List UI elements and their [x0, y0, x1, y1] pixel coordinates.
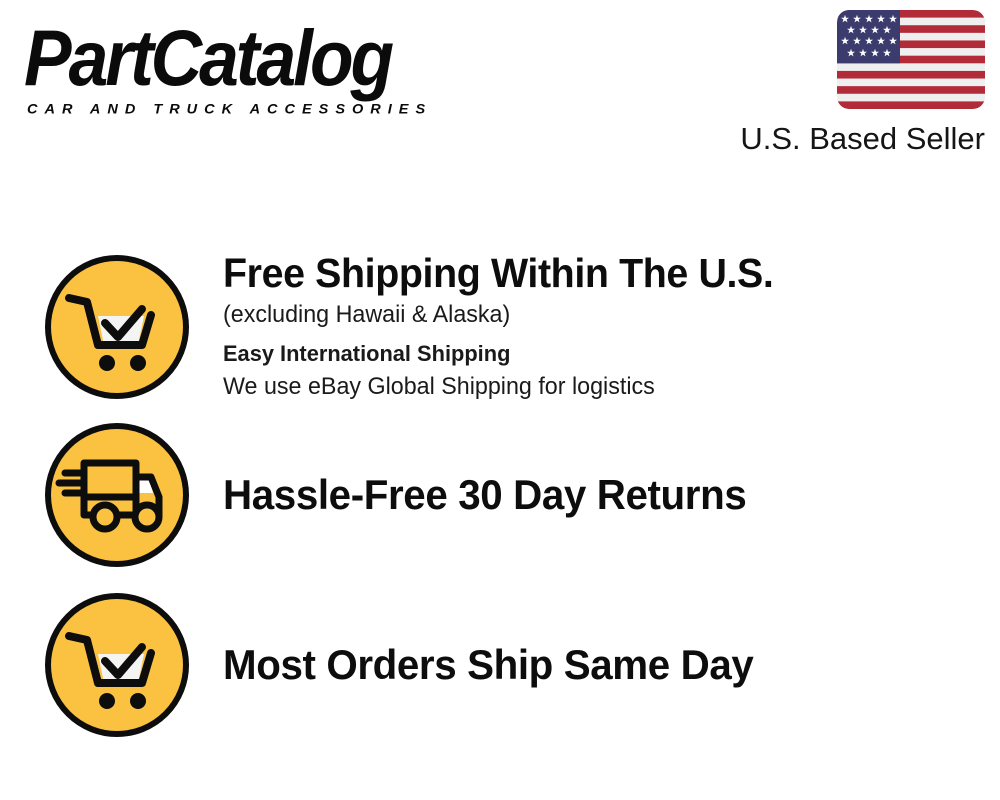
feature-subtitle: (excluding Hawaii & Alaska) [223, 298, 977, 331]
seller-label: U.S. Based Seller [655, 121, 985, 157]
feature-title: Most Orders Ship Same Day [223, 640, 969, 689]
feature-row: Hassle-Free 30 Day Returns [0, 421, 1000, 569]
feature-row: Most Orders Ship Same Day [0, 591, 1000, 739]
delivery-truck-icon [43, 421, 191, 569]
feature-subtitle-detail: We use eBay Global Shipping for logistic… [223, 370, 977, 403]
cart-check-icon [43, 253, 191, 401]
header: PartCatalog CAR AND TRUCK ACCESSORIES [0, 0, 1000, 175]
us-flag-icon [837, 10, 985, 109]
feature-row: Free Shipping Within The U.S. (excluding… [0, 249, 1000, 405]
feature-title: Free Shipping Within The U.S. [223, 249, 969, 298]
seller-badge: U.S. Based Seller [655, 10, 985, 157]
feature-text: Hassle-Free 30 Day Returns [223, 470, 1000, 521]
feature-text: Free Shipping Within The U.S. (excluding… [223, 249, 1000, 405]
brand-tagline: CAR AND TRUCK ACCESSORIES [27, 102, 494, 117]
feature-subtitle-bold: Easy International Shipping [223, 338, 977, 370]
brand-name: PartCatalog [24, 18, 503, 99]
feature-text: Most Orders Ship Same Day [223, 640, 1000, 691]
brand-logo: PartCatalog CAR AND TRUCK ACCESSORIES [24, 18, 494, 118]
feature-title: Hassle-Free 30 Day Returns [223, 470, 969, 519]
cart-check-icon [43, 591, 191, 739]
